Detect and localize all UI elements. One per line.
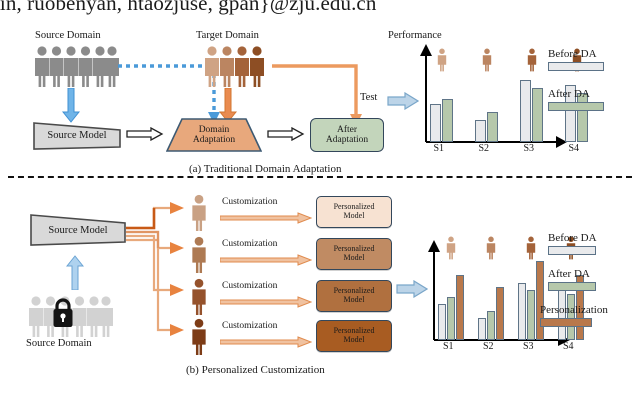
panel-a-test-block-arrow (387, 92, 419, 110)
bar-S3-after-da (527, 290, 535, 340)
bar-S1-before-da (438, 304, 446, 340)
chart-b-legend-1: After DA (548, 268, 596, 291)
chart-a-legend-swatch-0 (548, 62, 604, 71)
bar-S2-before-da (478, 318, 486, 340)
chart-b-legend-label-1: After DA (548, 268, 596, 280)
tick-label-S3: S3 (523, 341, 534, 352)
panel-b-customization-label-1: Customization (222, 198, 277, 208)
panel-a-source-to-model-arrow (62, 88, 80, 124)
panel-b-customization-arrow-4 (220, 336, 312, 348)
bar-S2-before-da (475, 120, 486, 142)
chart-b-plot-area (436, 254, 558, 340)
chart-b-legend-swatch-2 (540, 318, 592, 327)
panel-a-arrow-model-to-da (126, 127, 164, 141)
panel-a-da-label-1: Domain (199, 125, 230, 135)
chart-a-legend-2: After DA (548, 88, 604, 111)
panel-a-da-label-2: Adaptation (193, 135, 235, 145)
bar-S3-before-da (518, 283, 526, 340)
panel-a-source-domain-people-icon (32, 45, 124, 87)
tick-label-S2: S2 (483, 341, 494, 352)
panel-a-source-model-label: Source Model (33, 120, 121, 150)
bar-S3-after-da (532, 88, 543, 142)
lock-icon (50, 296, 76, 330)
pm-4-line2: Model (344, 336, 365, 345)
panel-b-customization-arrow-2 (220, 254, 312, 266)
panel-a-arrow-da-to-after (267, 127, 305, 141)
chart-b-legend-0: Before DA (548, 232, 597, 255)
chart-a-legend-label-1: After DA (548, 88, 604, 100)
chart-a-ylabel: Performance (388, 30, 442, 41)
chart-a-legend-swatch-1 (548, 102, 604, 111)
panel-b-customization-arrow-1 (220, 212, 312, 224)
bar-S3-personalization (536, 261, 544, 340)
bar-S2-after-da (487, 311, 495, 340)
panel-divider (8, 176, 632, 178)
panel-b-customization-arrow-3 (220, 296, 312, 308)
bar-S1-after-da (442, 99, 453, 142)
chart-a-legend: Before DA (548, 48, 604, 71)
bar-S3-before-da (520, 80, 531, 142)
tick-label-S1: S1 (443, 341, 454, 352)
chart-b-legend-label-0: Before DA (548, 232, 597, 244)
chart-b-legend-swatch-0 (548, 246, 596, 255)
panel-b-customization-label-4: Customization (222, 322, 277, 332)
panel-a-target-domain-people-icon (202, 45, 276, 87)
tick-label-S1: S1 (434, 143, 445, 154)
bar-S1-after-da (447, 297, 455, 340)
panel-a-source-domain-label: Source Domain (35, 30, 101, 41)
chart-b-legend-swatch-1 (548, 282, 596, 291)
panel-b-person-icon-2 (186, 236, 212, 274)
chart-a-tick-labels: S1S2S3S4 (428, 143, 562, 157)
pm-1-line2: Model (344, 212, 365, 221)
panel-b-personalized-model-2: Personalized Model (316, 238, 392, 270)
panel-a-target-domain-label: Target Domain (196, 30, 259, 41)
panel-a-domain-adaptation-box: Domain Adaptation (166, 118, 262, 152)
chart-b-legend-label-2: Personalization (540, 304, 608, 316)
panel-b-person-icon-1 (186, 194, 212, 232)
panel-b-source-domain-label: Source Domain (26, 338, 92, 349)
bar-S1-personalization (456, 275, 464, 340)
chart-b-tick-labels: S1S2S3S4 (436, 341, 558, 355)
pm-3-line2: Model (344, 296, 365, 305)
panel-b-source-model-box: Source Model (30, 212, 126, 248)
panel-b-person-icon-3 (186, 278, 212, 316)
panel-a-source-model-box: Source Model (33, 120, 121, 150)
panel-a-caption: (a) Traditional Domain Adaptation (189, 163, 341, 175)
panel-a-test-label: Test (360, 92, 377, 103)
tick-label-S4: S4 (563, 341, 574, 352)
panel-b-customization-label-3: Customization (222, 282, 277, 292)
pm-2-line2: Model (344, 254, 365, 263)
bar-S2-personalization (496, 287, 504, 340)
bar-S1-before-da (430, 104, 441, 142)
panel-a-after-label-1: After (337, 125, 357, 135)
tick-label-S2: S2 (479, 143, 490, 154)
chart-a-plot-area (428, 60, 562, 142)
chart-b-legend-2: Personalization (540, 304, 608, 327)
bar-S2-after-da (487, 112, 498, 142)
panel-b-customization-label-2: Customization (222, 240, 277, 250)
panel-b-source-model-label: Source Model (30, 212, 126, 248)
panel-b-person-icon-4 (186, 318, 212, 356)
panel-b-personalized-model-4: Personalized Model (316, 320, 392, 352)
panel-b-personalized-model-3: Personalized Model (316, 280, 392, 312)
panel-a-after-label-2: Adaptation (326, 135, 368, 145)
tick-label-S4: S4 (569, 143, 580, 154)
tick-label-S3: S3 (524, 143, 535, 154)
panel-b-source-to-model-arrow (66, 250, 84, 290)
panel-b-caption: (b) Personalized Customization (186, 364, 325, 376)
panel-a-after-adaptation-box: After Adaptation (310, 118, 384, 152)
header-email-line: ıın, ruobenyan, htaozjuse, gpan}@zju.edu… (0, 0, 640, 17)
panel-b-personalized-model-1: Personalized Model (316, 196, 392, 228)
chart-a-legend-label-0: Before DA (548, 48, 604, 60)
